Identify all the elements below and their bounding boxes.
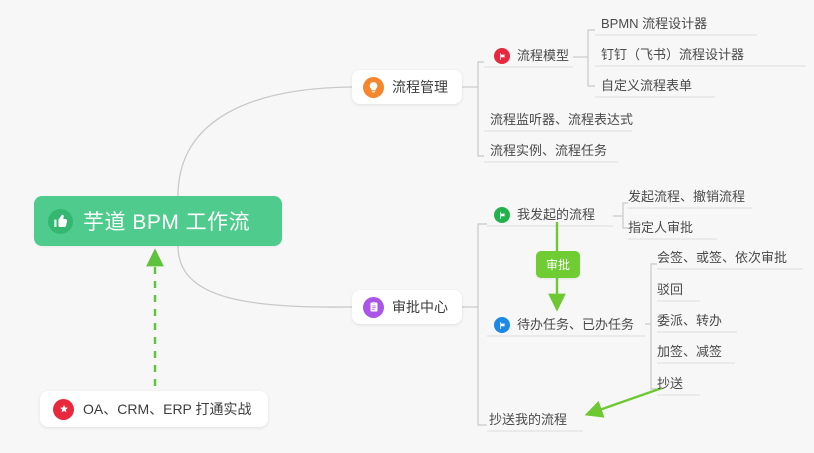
root-node[interactable]: 芋道 BPM 工作流 bbox=[34, 196, 282, 246]
node-todo-done-tasks[interactable]: 待办任务、已办任务 bbox=[494, 314, 634, 336]
node-bpmn-designer[interactable]: BPMN 流程设计器 bbox=[601, 13, 707, 35]
thumbs-up-icon bbox=[48, 209, 73, 234]
branch-node-approval-center[interactable]: 审批中心 bbox=[352, 290, 462, 324]
annotation-approve-tag: 审批 bbox=[536, 251, 580, 278]
node-label: 钉钉（飞书）流程设计器 bbox=[601, 44, 744, 66]
clipboard-icon bbox=[363, 297, 384, 318]
node-custom-form[interactable]: 自定义流程表单 bbox=[601, 75, 692, 97]
node-label: 抄送我的流程 bbox=[489, 409, 567, 431]
mindmap-canvas: 芋道 BPM 工作流 流程管理 流程模型 BPMN 流程设计器 钉钉（飞书）流程… bbox=[0, 0, 814, 453]
node-label: 抄送 bbox=[657, 373, 683, 395]
branch-label: 流程管理 bbox=[392, 77, 448, 97]
callout-oa-crm-erp[interactable]: OA、CRM、ERP 打通实战 bbox=[40, 391, 268, 427]
annotation-label: 审批 bbox=[546, 258, 570, 272]
node-label: 待办任务、已办任务 bbox=[517, 314, 634, 336]
node-countersign[interactable]: 会签、或签、依次审批 bbox=[657, 247, 787, 269]
node-dingtalk-designer[interactable]: 钉钉（飞书）流程设计器 bbox=[601, 44, 744, 66]
star-icon bbox=[53, 399, 74, 420]
branch-node-process-management[interactable]: 流程管理 bbox=[352, 70, 462, 104]
link-approval-spine bbox=[478, 224, 487, 425]
node-instance-task[interactable]: 流程实例、流程任务 bbox=[490, 140, 607, 162]
node-carbon-copy[interactable]: 抄送 bbox=[657, 373, 683, 395]
node-label: 流程实例、流程任务 bbox=[490, 140, 607, 162]
root-label: 芋道 BPM 工作流 bbox=[83, 206, 250, 236]
node-label: BPMN 流程设计器 bbox=[601, 13, 707, 35]
node-delegate-transfer[interactable]: 委派、转办 bbox=[657, 310, 722, 332]
branch-label: 审批中心 bbox=[392, 297, 448, 317]
node-add-remove-sign[interactable]: 加签、减签 bbox=[657, 341, 722, 363]
node-my-started-processes[interactable]: 我发起的流程 bbox=[494, 204, 595, 226]
flag-icon bbox=[494, 207, 510, 223]
node-reject[interactable]: 驳回 bbox=[657, 279, 683, 301]
callout-label: OA、CRM、ERP 打通实战 bbox=[83, 399, 252, 419]
node-cc-to-me-processes[interactable]: 抄送我的流程 bbox=[489, 409, 567, 431]
node-assigned-approval[interactable]: 指定人审批 bbox=[628, 217, 693, 239]
flag-icon bbox=[494, 317, 510, 333]
node-start-cancel-process[interactable]: 发起流程、撤销流程 bbox=[628, 186, 745, 208]
node-label: 流程模型 bbox=[517, 45, 569, 67]
node-label: 自定义流程表单 bbox=[601, 75, 692, 97]
flag-icon bbox=[494, 48, 510, 64]
node-label: 会签、或签、依次审批 bbox=[657, 247, 787, 269]
node-label: 我发起的流程 bbox=[517, 204, 595, 226]
node-label: 委派、转办 bbox=[657, 310, 722, 332]
node-label: 加签、减签 bbox=[657, 341, 722, 363]
link-process-spine bbox=[478, 62, 484, 156]
lightbulb-icon bbox=[363, 77, 384, 98]
node-listener-expression[interactable]: 流程监听器、流程表达式 bbox=[490, 109, 633, 131]
node-label: 发起流程、撤销流程 bbox=[628, 186, 745, 208]
node-process-model[interactable]: 流程模型 bbox=[494, 45, 569, 67]
link-root-to-approval bbox=[178, 246, 352, 307]
node-label: 指定人审批 bbox=[628, 217, 693, 239]
node-label: 流程监听器、流程表达式 bbox=[490, 109, 633, 131]
link-root-to-process bbox=[178, 87, 352, 196]
node-label: 驳回 bbox=[657, 279, 683, 301]
arrow-cc-to-myflow bbox=[588, 388, 662, 414]
link-model-spine bbox=[588, 30, 595, 86]
